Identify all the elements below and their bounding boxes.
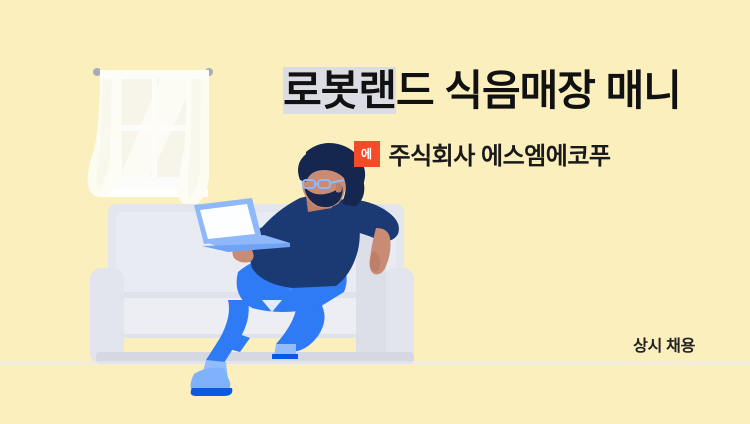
company-name: 주식회사 에스엠에코푸 [389, 136, 611, 171]
title-rest-segment: 드 식음매장 매니 [396, 67, 681, 114]
job-posting-banner: 로봇랜드 식음매장 매니 에 주식회사 에스엠에코푸 상시 채용 [0, 0, 750, 424]
page-title: 로봇랜드 식음매장 매니 [262, 66, 702, 116]
company-row: 에 주식회사 에스엠에코푸 [262, 136, 702, 171]
company-badge-icon: 에 [354, 141, 380, 167]
title-highlighted-segment: 로봇랜 [283, 67, 396, 114]
hiring-status-note: 상시 채용 [633, 332, 695, 356]
